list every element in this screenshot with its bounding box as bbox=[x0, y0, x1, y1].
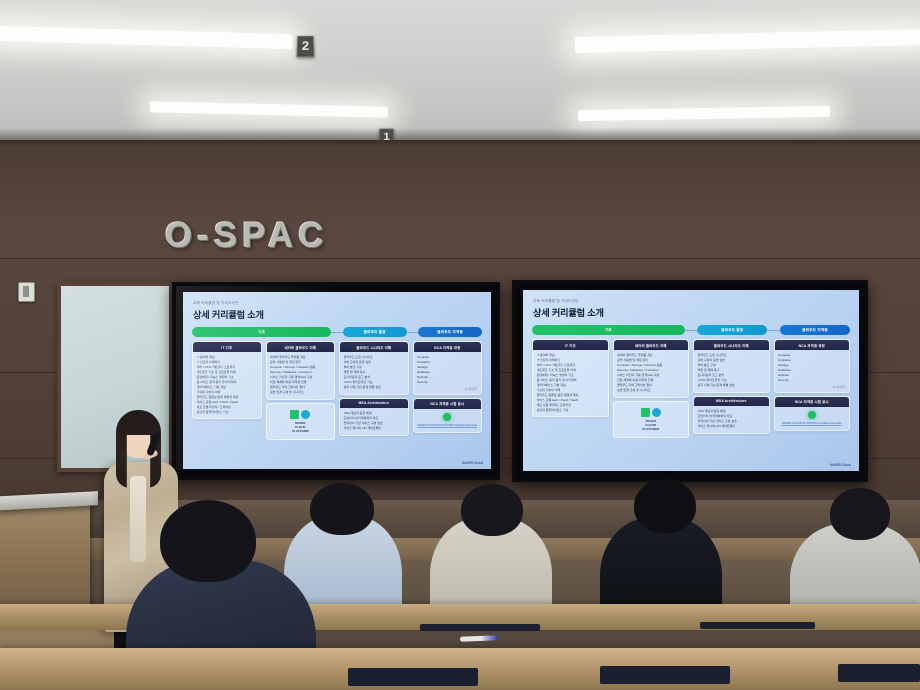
attendee-head bbox=[634, 479, 696, 533]
card-header: NCA 자격증 과정 bbox=[775, 340, 850, 350]
card-ncloud-understanding: 네이버 클라우드 이해 네이버 클라우드 플랫폼 개요콘솔 사용법 및 계정 관… bbox=[613, 339, 690, 398]
naver-cloud-platform-logo: NAVERCLOUDPLATFORM bbox=[613, 401, 690, 438]
certification-text: NAVER CLOUD PLATFORM Certified Associate bbox=[782, 421, 842, 425]
presentation-slide-right: 교육 커리큘럼 및 가이드라인 상세 커리큘럼 소개 기초 클라우드 활용 클라… bbox=[523, 290, 859, 471]
curriculum-columns: IT 기초 IT 용어와 개념IT 인프라 이해하기서버 / CPU / 메모리… bbox=[192, 341, 482, 440]
certification-badge-icon bbox=[443, 413, 451, 421]
card-header: 네이버 클라우드 이해 bbox=[614, 340, 689, 350]
slide-eyebrow: 교육 커리큘럼 및 가이드라인 bbox=[193, 301, 482, 306]
card-header: MSA Architecture bbox=[694, 397, 769, 406]
ceiling-light-strip bbox=[150, 101, 388, 117]
card-list: 클라우드 도입 시나리오서버 구성과 운영 실습부하 분산 구성백업 및 재해 … bbox=[344, 355, 405, 390]
track-pill-certification: 클라우드 자격증 bbox=[418, 327, 482, 337]
desk-monitor-slot bbox=[838, 664, 920, 682]
lecture-hall-photo: 2 1 O-SPAC 교육 커리큘럼 및 가이드라인 상세 커리큘럼 소개 기초… bbox=[0, 0, 920, 690]
card-header: IT 기초 bbox=[193, 342, 261, 352]
list-item: 서비스 메시와 API 게이트웨이 bbox=[698, 424, 766, 429]
column-nca-certification: NCA 자격증 과정 ComputeContainerStorageDataba… bbox=[413, 341, 483, 433]
track-pill-row: 기초 클라우드 활용 클라우드 자격증 bbox=[532, 325, 850, 335]
card-header: 클라우드 시나리오 이해 bbox=[694, 340, 769, 350]
list-item: Security bbox=[778, 378, 846, 383]
card-list: MSA 개념과 등장 배경모놀리식 아키텍처와의 비교컨테이너 기반 서비스 구… bbox=[698, 409, 766, 429]
card-header: NCA 자격증 과정 bbox=[414, 342, 482, 352]
slide-title: 상세 커리큘럼 소개 bbox=[193, 307, 482, 321]
track-pill-basic: 기초 bbox=[192, 327, 331, 337]
ceiling-marker-2: 2 bbox=[297, 36, 315, 57]
card-list: 네이버 클라우드 플랫폼 개요콘솔 사용법 및 계정 관리Compute / S… bbox=[617, 353, 685, 393]
card-header: 네이버 클라우드 이해 bbox=[267, 342, 335, 352]
card-nca-course: NCA 자격증 과정 ComputeContainerStorageDataba… bbox=[774, 339, 851, 393]
ceiling-light-strip bbox=[578, 106, 830, 121]
track-pill-usage: 클라우드 활용 bbox=[697, 325, 767, 335]
wall-switch-panel[interactable] bbox=[18, 282, 35, 302]
attendee-head bbox=[310, 483, 374, 535]
column-ncloud-understanding: 네이버 클라우드 이해 네이버 클라우드 플랫폼 개요콘솔 사용법 및 계정 관… bbox=[613, 339, 690, 438]
list-item: 서비스 메시와 API 게이트웨이 bbox=[344, 426, 405, 431]
card-list: 클라우드 도입 시나리오서버 구성과 운영 실습부하 분산 구성백업 및 재해 … bbox=[698, 353, 766, 388]
column-cloud-scenario: 클라우드 시나리오 이해 클라우드 도입 시나리오서버 구성과 운영 실습부하 … bbox=[339, 341, 409, 436]
card-list: MSA 개념과 등장 배경모놀리식 아키텍처와의 비교컨테이너 기반 서비스 구… bbox=[344, 411, 405, 431]
list-item: Security bbox=[417, 380, 478, 385]
card-it-basics: IT 기초 IT 용어와 개념IT 인프라 이해하기서버 / CPU / 메모리… bbox=[532, 339, 609, 417]
list-item: 실습 환경 구성 및 시나리오 bbox=[270, 390, 331, 395]
card-list: ComputeContainerStorageDatabaseNetworkSe… bbox=[778, 353, 846, 383]
track-pill-row: 기초 클라우드 활용 클라우드 자격증 bbox=[192, 327, 482, 337]
card-cloud-scenario: 클라우드 시나리오 이해 클라우드 도입 시나리오서버 구성과 운영 실습부하 … bbox=[339, 341, 409, 395]
display-screen-right: 교육 커리큘럼 및 가이드라인 상세 커리큘럼 소개 기초 클라우드 활용 클라… bbox=[512, 280, 868, 482]
ceiling-light-strip bbox=[0, 26, 292, 49]
card-nca-exam: NCA 자격증 시험 응시 NAVER CLOUD PLATFORM Certi… bbox=[774, 396, 851, 431]
card-nca-course: NCA 자격증 과정 ComputeContainerStorageDataba… bbox=[413, 341, 483, 395]
certification-text: NAVER CLOUD PLATFORM Certified Associate bbox=[417, 423, 477, 427]
slide-title: 상세 커리큘럼 소개 bbox=[533, 305, 850, 319]
attendee-head bbox=[830, 488, 890, 540]
logo-text: NAVERCLOUDPLATFORM bbox=[292, 421, 308, 433]
column-ncloud-understanding: 네이버 클라우드 이해 네이버 클라우드 플랫폼 개요콘솔 사용법 및 계정 관… bbox=[266, 341, 336, 440]
track-pill-basic: 기초 bbox=[532, 325, 685, 335]
list-item: 보안과 컴플라이언스 기초 bbox=[197, 410, 258, 415]
list-item: 실무 사례 기반 문제 해결 실습 bbox=[344, 385, 405, 390]
card-msa-architecture: MSA Architecture MSA 개념과 등장 배경모놀리식 아키텍처와… bbox=[339, 398, 409, 436]
card-list: 네이버 클라우드 플랫폼 개요콘솔 사용법 및 계정 관리Compute / S… bbox=[270, 355, 331, 395]
card-msa-architecture: MSA Architecture MSA 개념과 등장 배경모놀리식 아키텍처와… bbox=[693, 396, 770, 434]
slide-watermark: NAVER Cloud bbox=[462, 461, 483, 465]
desk-monitor-slot bbox=[348, 668, 478, 686]
venue-sign: O-SPAC bbox=[165, 216, 329, 256]
attendee-head bbox=[160, 500, 256, 582]
column-it-basics: IT 기초 IT 용어와 개념IT 인프라 이해하기서버 / CPU / 메모리… bbox=[192, 341, 262, 419]
card-header: NCA 자격증 시험 응시 bbox=[775, 397, 850, 407]
logo-square-icon bbox=[641, 408, 650, 417]
ceiling-light-strip bbox=[575, 29, 920, 53]
slide-watermark: NAVER Cloud bbox=[830, 463, 851, 467]
card-header: 클라우드 시나리오 이해 bbox=[340, 342, 408, 352]
display-screen-left: 교육 커리큘럼 및 가이드라인 상세 커리큘럼 소개 기초 클라우드 활용 클라… bbox=[172, 282, 500, 480]
card-cloud-scenario: 클라우드 시나리오 이해 클라우드 도입 시나리오서버 구성과 운영 실습부하 … bbox=[693, 339, 770, 393]
list-item: 실무 사례 기반 문제 해결 실습 bbox=[698, 383, 766, 388]
card-nca-exam: NCA 자격증 시험 응시 NAVER CLOUD PLATFORM Certi… bbox=[413, 398, 483, 433]
presentation-slide-left: 교육 커리큘럼 및 가이드라인 상세 커리큘럼 소개 기초 클라우드 활용 클라… bbox=[183, 292, 491, 469]
certification-badge-icon bbox=[808, 411, 816, 419]
pill-connector bbox=[331, 332, 343, 333]
card-note: 총 6개 영역 bbox=[414, 386, 482, 391]
naver-cloud-platform-logo: NAVERCLOUDPLATFORM bbox=[266, 403, 336, 440]
logo-square-icon bbox=[290, 410, 299, 419]
wall-trim bbox=[0, 140, 920, 149]
list-item: 실습 환경 구성 및 시나리오 bbox=[617, 388, 685, 393]
curriculum-columns: IT 기초 IT 용어와 개념IT 인프라 이해하기서버 / CPU / 메모리… bbox=[532, 339, 850, 438]
card-header: MSA Architecture bbox=[340, 399, 408, 408]
logo-circle-icon bbox=[301, 410, 310, 419]
card-note: 총 6개 영역 bbox=[775, 384, 850, 389]
slide-eyebrow: 교육 커리큘럼 및 가이드라인 bbox=[533, 299, 850, 304]
card-list: IT 용어와 개념IT 인프라 이해하기서버 / CPU / 메모리 / 스토리… bbox=[197, 355, 258, 414]
track-pill-usage: 클라우드 활용 bbox=[343, 327, 407, 337]
card-ncloud-understanding: 네이버 클라우드 이해 네이버 클라우드 플랫폼 개요콘솔 사용법 및 계정 관… bbox=[266, 341, 336, 400]
desk-monitor-slot bbox=[420, 624, 540, 631]
ceiling bbox=[0, 0, 920, 146]
column-nca-certification: NCA 자격증 과정 ComputeContainerStorageDataba… bbox=[774, 339, 851, 431]
card-header: IT 기초 bbox=[533, 340, 608, 350]
desk-monitor-slot bbox=[600, 666, 730, 684]
column-it-basics: IT 기초 IT 용어와 개념IT 인프라 이해하기서버 / CPU / 메모리… bbox=[532, 339, 609, 417]
card-list: IT 용어와 개념IT 인프라 이해하기서버 / CPU / 메모리 / 스토리… bbox=[537, 353, 605, 412]
card-it-basics: IT 기초 IT 용어와 개념IT 인프라 이해하기서버 / CPU / 메모리… bbox=[192, 341, 262, 419]
column-cloud-scenario: 클라우드 시나리오 이해 클라우드 도입 시나리오서버 구성과 운영 실습부하 … bbox=[693, 339, 770, 434]
pill-connector bbox=[767, 330, 780, 331]
desk-monitor-slot bbox=[700, 622, 815, 629]
pill-connector bbox=[407, 332, 419, 333]
logo-circle-icon bbox=[652, 408, 661, 417]
pill-connector bbox=[685, 330, 698, 331]
track-pill-certification: 클라우드 자격증 bbox=[780, 325, 850, 335]
logo-text: NAVERCLOUDPLATFORM bbox=[643, 419, 659, 431]
card-header: NCA 자격증 시험 응시 bbox=[414, 399, 482, 409]
podium bbox=[0, 500, 90, 620]
attendee-head bbox=[461, 484, 523, 536]
card-list: ComputeContainerStorageDatabaseNetworkSe… bbox=[417, 355, 478, 385]
list-item: 보안과 컴플라이언스 기초 bbox=[537, 408, 605, 413]
